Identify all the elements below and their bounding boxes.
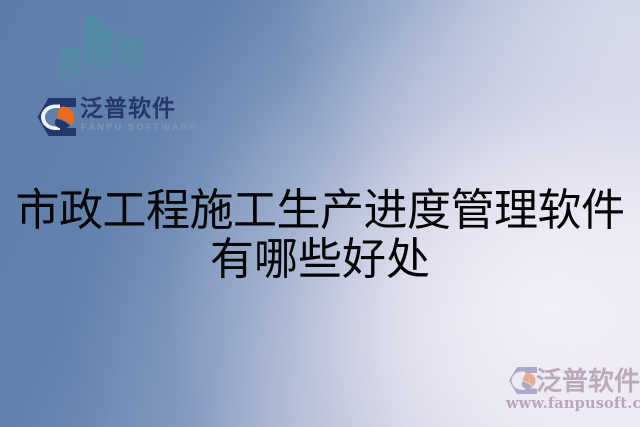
watermark-name-cn: 泛普软件 <box>536 361 640 398</box>
fanpu-logo: 泛普软件 FANPU SOFTWARE <box>36 96 178 142</box>
page-title-line-1: 市政工程施工生产进度管理软件 <box>0 186 640 235</box>
poster-canvas: 泛普软件 FANPU SOFTWARE 市政工程施工生产进度管理软件 有哪些好处… <box>0 0 640 427</box>
pixel-skyline-icon <box>60 14 152 96</box>
watermark: 泛普软件 www.fanpusoft.com <box>505 364 637 418</box>
logo-name-en: FANPU SOFTWARE <box>81 122 198 133</box>
fanpu-watermark-logo-icon <box>508 366 538 395</box>
fanpu-hexagon-logo-icon <box>36 97 78 137</box>
page-title: 市政工程施工生产进度管理软件 有哪些好处 <box>0 186 640 284</box>
page-title-line-2: 有哪些好处 <box>0 235 640 284</box>
watermark-url: www.fanpusoft.com <box>506 395 640 412</box>
logo-name-cn: 泛普软件 <box>80 95 176 123</box>
